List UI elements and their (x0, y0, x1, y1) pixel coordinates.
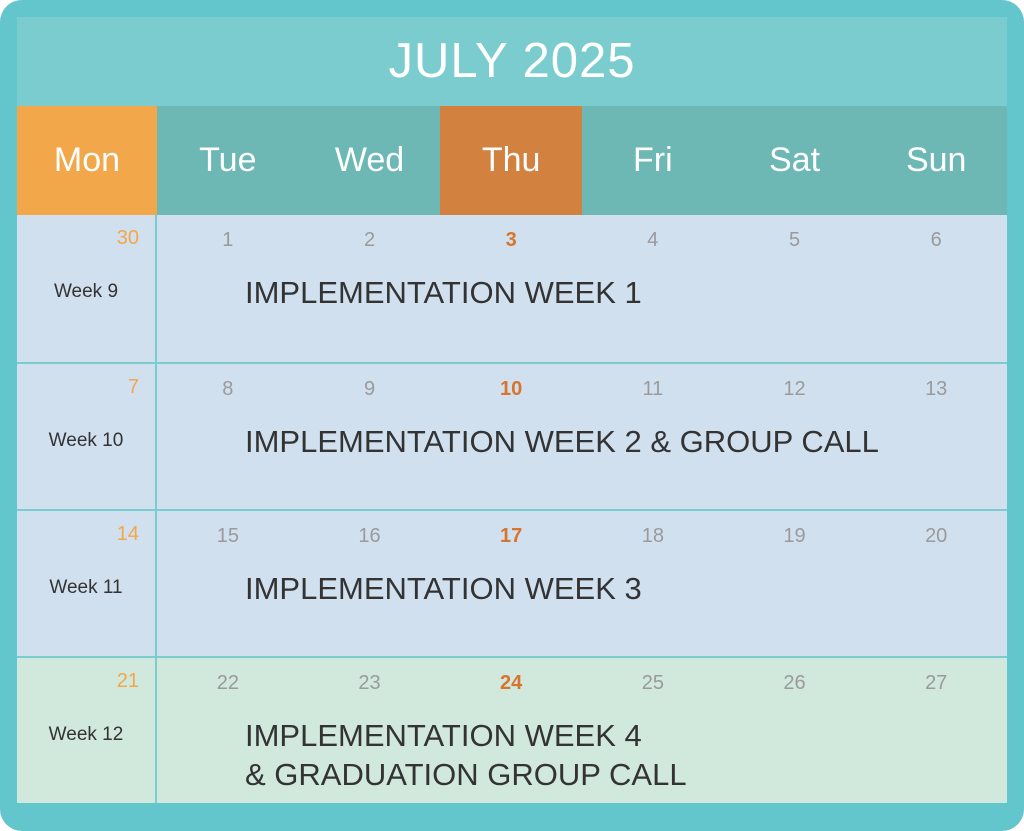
calendar-title-bar: JULY 2025 (17, 17, 1007, 106)
day-cell[interactable]: 2 (299, 227, 441, 253)
day-number-row: 151617181920 (157, 523, 1007, 549)
calendar-frame: JULY 2025 MonTueWedThuFriSatSun 30Week 9… (0, 0, 1024, 831)
week-row: 30Week 9123456IMPLEMENTATION WEEK 1 (17, 215, 1007, 362)
day-cell[interactable]: 8 (157, 376, 299, 402)
week-label-cell[interactable]: 30Week 9 (17, 215, 157, 362)
week-name-label: Week 9 (17, 281, 155, 303)
event-label[interactable]: IMPLEMENTATION WEEK 1 (245, 273, 997, 312)
weekday-label: Sat (769, 141, 820, 180)
day-number-row: 222324252627 (157, 670, 1007, 696)
day-cell[interactable]: 5 (724, 227, 866, 253)
day-cell[interactable]: 24 (440, 670, 582, 696)
week-name-label: Week 12 (17, 724, 155, 746)
weekday-header-thu[interactable]: Thu (440, 106, 582, 215)
day-cell[interactable]: 1 (157, 227, 299, 253)
day-cell[interactable]: 11 (582, 376, 724, 402)
day-cell[interactable]: 17 (440, 523, 582, 549)
day-cell[interactable]: 26 (724, 670, 866, 696)
day-cell[interactable]: 4 (582, 227, 724, 253)
weekday-header-tue[interactable]: Tue (157, 106, 299, 215)
weekday-header-wed[interactable]: Wed (299, 106, 441, 215)
weekday-label: Wed (335, 141, 404, 180)
monday-date-number: 7 (128, 376, 139, 399)
day-cell[interactable]: 10 (440, 376, 582, 402)
day-cell[interactable]: 27 (865, 670, 1007, 696)
day-number-row: 123456 (157, 227, 1007, 253)
day-number-row: 8910111213 (157, 376, 1007, 402)
calendar-title: JULY 2025 (389, 37, 636, 86)
day-cell[interactable]: 3 (440, 227, 582, 253)
day-cell[interactable]: 19 (724, 523, 866, 549)
week-days-area: 123456IMPLEMENTATION WEEK 1 (157, 215, 1007, 362)
week-row: 7Week 108910111213IMPLEMENTATION WEEK 2 … (17, 362, 1007, 509)
day-cell[interactable]: 9 (299, 376, 441, 402)
weekday-header-fri[interactable]: Fri (582, 106, 724, 215)
day-cell[interactable]: 6 (865, 227, 1007, 253)
calendar-panel: JULY 2025 MonTueWedThuFriSatSun 30Week 9… (17, 17, 1007, 831)
event-label[interactable]: IMPLEMENTATION WEEK 3 (245, 569, 997, 608)
week-days-area: 151617181920IMPLEMENTATION WEEK 3 (157, 511, 1007, 656)
day-cell[interactable]: 25 (582, 670, 724, 696)
week-row: 21Week 12222324252627IMPLEMENTATION WEEK… (17, 656, 1007, 803)
day-cell[interactable]: 12 (724, 376, 866, 402)
week-label-cell[interactable]: 7Week 10 (17, 364, 157, 509)
day-cell[interactable]: 16 (299, 523, 441, 549)
weekday-label: Fri (633, 141, 673, 180)
day-cell[interactable]: 20 (865, 523, 1007, 549)
day-cell[interactable]: 15 (157, 523, 299, 549)
weekday-label: Mon (54, 141, 120, 180)
week-name-label: Week 11 (17, 577, 155, 599)
weekday-header-row: MonTueWedThuFriSatSun (17, 106, 1007, 215)
weekday-header-sun[interactable]: Sun (865, 106, 1007, 215)
weekday-header-mon[interactable]: Mon (17, 106, 157, 215)
calendar-body: 30Week 9123456IMPLEMENTATION WEEK 17Week… (17, 215, 1007, 803)
day-cell[interactable]: 23 (299, 670, 441, 696)
weekday-label: Thu (482, 141, 541, 180)
week-days-area: 222324252627IMPLEMENTATION WEEK 4 & GRAD… (157, 658, 1007, 803)
week-label-cell[interactable]: 21Week 12 (17, 658, 157, 803)
weekday-header-sat[interactable]: Sat (724, 106, 866, 215)
monday-date-number: 21 (117, 670, 139, 693)
week-days-area: 8910111213IMPLEMENTATION WEEK 2 & GROUP … (157, 364, 1007, 509)
week-name-label: Week 10 (17, 430, 155, 452)
event-label[interactable]: IMPLEMENTATION WEEK 2 & GROUP CALL (245, 422, 997, 461)
week-row: 14Week 11151617181920IMPLEMENTATION WEEK… (17, 509, 1007, 656)
week-label-cell[interactable]: 14Week 11 (17, 511, 157, 656)
weekday-label: Sun (906, 141, 967, 180)
monday-date-number: 14 (117, 523, 139, 546)
day-cell[interactable]: 22 (157, 670, 299, 696)
day-cell[interactable]: 13 (865, 376, 1007, 402)
event-label[interactable]: IMPLEMENTATION WEEK 4 & GRADUATION GROUP… (245, 716, 997, 794)
monday-date-number: 30 (117, 227, 139, 250)
weekday-label: Tue (199, 141, 256, 180)
day-cell[interactable]: 18 (582, 523, 724, 549)
